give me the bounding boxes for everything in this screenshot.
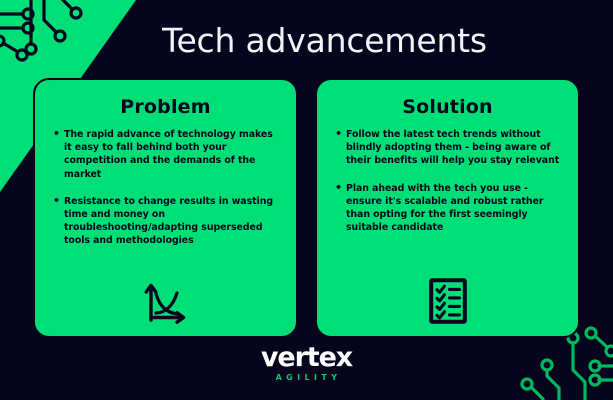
declining-chart-icon bbox=[143, 280, 189, 324]
list-item: The rapid advance of technology makes it… bbox=[51, 128, 280, 181]
slide-canvas: Tech advancements Problem The rapid adva… bbox=[0, 0, 613, 400]
card-solution: Solution Follow the latest tech trends w… bbox=[315, 78, 580, 338]
card-problem-icon-wrap bbox=[35, 276, 296, 324]
list-item: Plan ahead with the tech you use - ensur… bbox=[333, 182, 562, 235]
card-solution-title: Solution bbox=[333, 96, 562, 118]
list-item: Follow the latest tech trends without bl… bbox=[333, 128, 562, 168]
logo-tagline: AGILITY bbox=[0, 372, 613, 383]
card-problem-title: Problem bbox=[51, 96, 280, 118]
brand-logo: vertex AGILITY bbox=[0, 344, 613, 383]
page-title: Tech advancements bbox=[0, 21, 613, 60]
checklist-icon bbox=[429, 278, 467, 324]
list-item: Resistance to change results in wasting … bbox=[51, 195, 280, 248]
card-problem-bullets: The rapid advance of technology makes it… bbox=[51, 128, 280, 248]
card-solution-icon-wrap bbox=[317, 276, 578, 324]
card-problem: Problem The rapid advance of technology … bbox=[33, 78, 298, 338]
cards-container: Problem The rapid advance of technology … bbox=[33, 78, 580, 338]
card-solution-bullets: Follow the latest tech trends without bl… bbox=[333, 128, 562, 234]
logo-wordmark: vertex bbox=[0, 344, 613, 372]
